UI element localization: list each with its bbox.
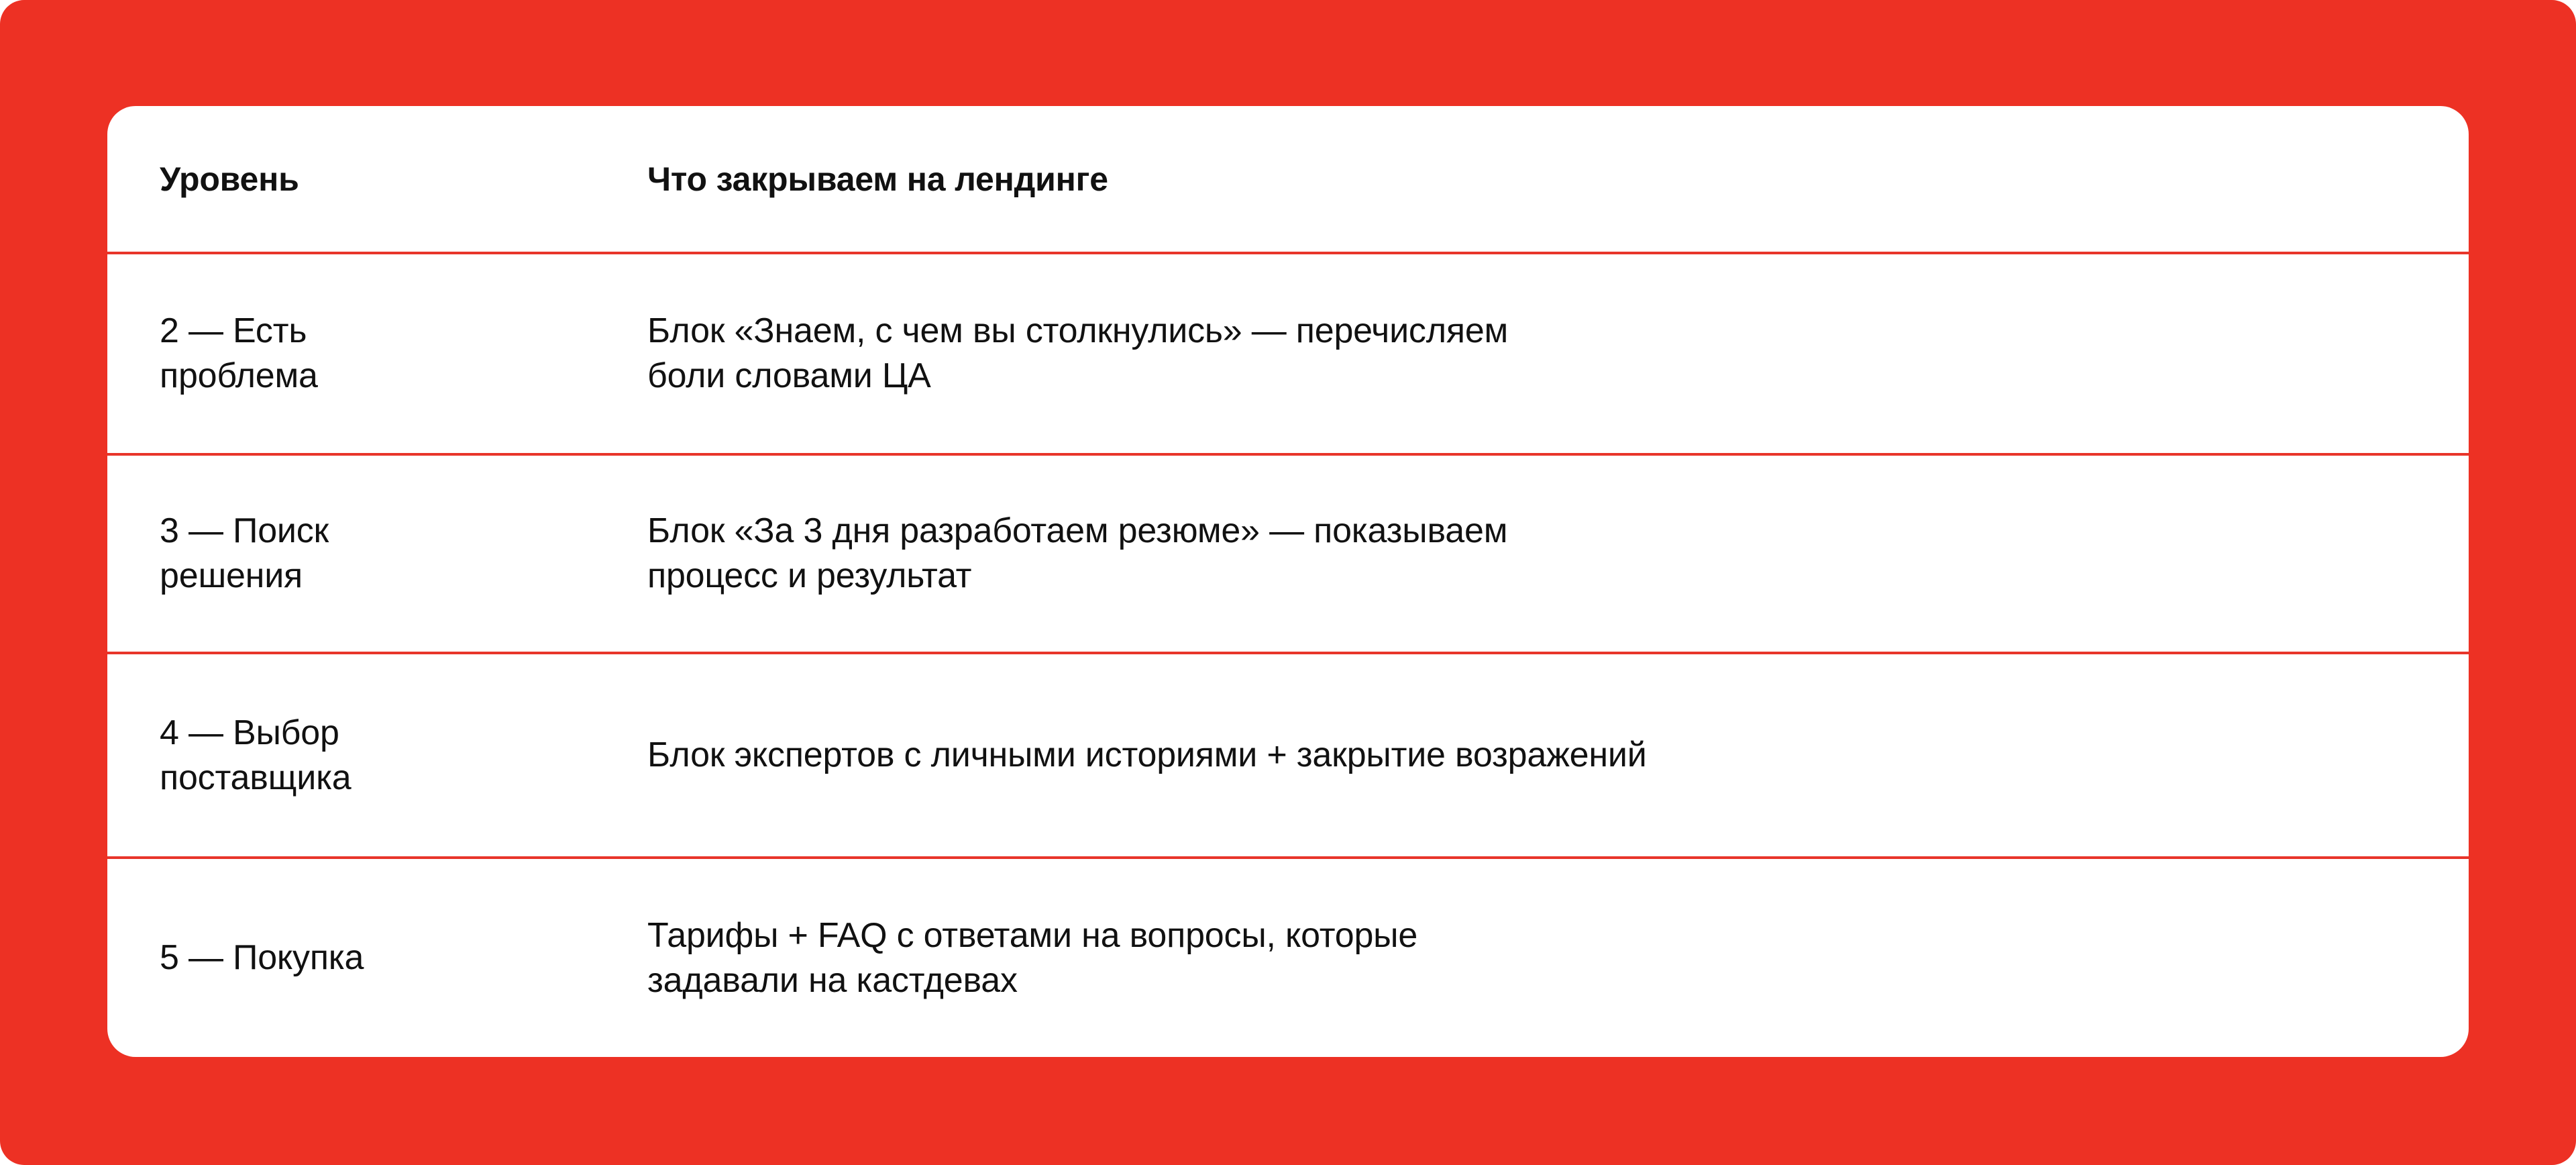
table-row: 4 — Выбор поставщика Блок экспертов с ли… xyxy=(107,653,2469,858)
table-row: 5 — Покупка Тарифы + FAQ с ответами на в… xyxy=(107,858,2469,1057)
screenshot-canvas: Уровень Что закрываем на лендинге 2 — Ес xyxy=(0,0,2576,1165)
text-line: 5 — Покупка xyxy=(160,935,564,980)
text-line: Блок «За 3 дня разработаем резюме» — пок… xyxy=(647,509,2428,554)
cell-level: 5 — Покупка xyxy=(107,858,591,1057)
cell-what-text: Блок «Знаем, с чем вы столкнулись» — пер… xyxy=(647,309,2428,398)
text-line: решения xyxy=(160,554,564,599)
column-header-what-label: Что закрываем на лендинге xyxy=(647,159,2428,199)
cell-what: Тарифы + FAQ с ответами на вопросы, кото… xyxy=(591,858,2469,1057)
cell-level-text: 2 — Есть проблема xyxy=(160,309,564,398)
text-line: Тарифы + FAQ с ответами на вопросы, кото… xyxy=(647,913,2428,958)
text-line: поставщика xyxy=(160,756,564,801)
cell-what-text: Блок «За 3 дня разработаем резюме» — пок… xyxy=(647,509,2428,598)
cell-level-text: 4 — Выбор поставщика xyxy=(160,711,564,800)
cell-what: Блок экспертов с личными историями + зак… xyxy=(591,653,2469,858)
cell-what: Блок «Знаем, с чем вы столкнулись» — пер… xyxy=(591,253,2469,454)
cell-level: 2 — Есть проблема xyxy=(107,253,591,454)
cell-level-text: 5 — Покупка xyxy=(160,935,564,980)
cell-level: 3 — Поиск решения xyxy=(107,454,591,653)
table-row: 3 — Поиск решения Блок «За 3 дня разрабо… xyxy=(107,454,2469,653)
levels-table: Уровень Что закрываем на лендинге 2 — Ес xyxy=(107,106,2469,1057)
text-line: проблема xyxy=(160,354,564,399)
text-line: 4 — Выбор xyxy=(160,711,564,756)
cell-what-text: Тарифы + FAQ с ответами на вопросы, кото… xyxy=(647,913,2428,1003)
text-line: боли словами ЦА xyxy=(647,354,2428,399)
table-row: 2 — Есть проблема Блок «Знаем, с чем вы … xyxy=(107,253,2469,454)
table-header-row: Уровень Что закрываем на лендинге xyxy=(107,106,2469,253)
column-header-level: Уровень xyxy=(107,106,591,253)
levels-table-card: Уровень Что закрываем на лендинге 2 — Ес xyxy=(107,106,2469,1057)
column-header-level-label: Уровень xyxy=(160,159,564,199)
cell-level-text: 3 — Поиск решения xyxy=(160,509,564,598)
text-line: 3 — Поиск xyxy=(160,509,564,554)
column-header-what: Что закрываем на лендинге xyxy=(591,106,2469,253)
cell-what: Блок «За 3 дня разработаем резюме» — пок… xyxy=(591,454,2469,653)
cell-level: 4 — Выбор поставщика xyxy=(107,653,591,858)
cell-what-text: Блок экспертов с личными историями + зак… xyxy=(647,733,2428,778)
text-line: Блок «Знаем, с чем вы столкнулись» — пер… xyxy=(647,309,2428,354)
text-line: задавали на кастдевах xyxy=(647,958,2428,1003)
text-line: 2 — Есть xyxy=(160,309,564,354)
text-line: процесс и результат xyxy=(647,554,2428,599)
text-line: Блок экспертов с личными историями + зак… xyxy=(647,733,2428,778)
